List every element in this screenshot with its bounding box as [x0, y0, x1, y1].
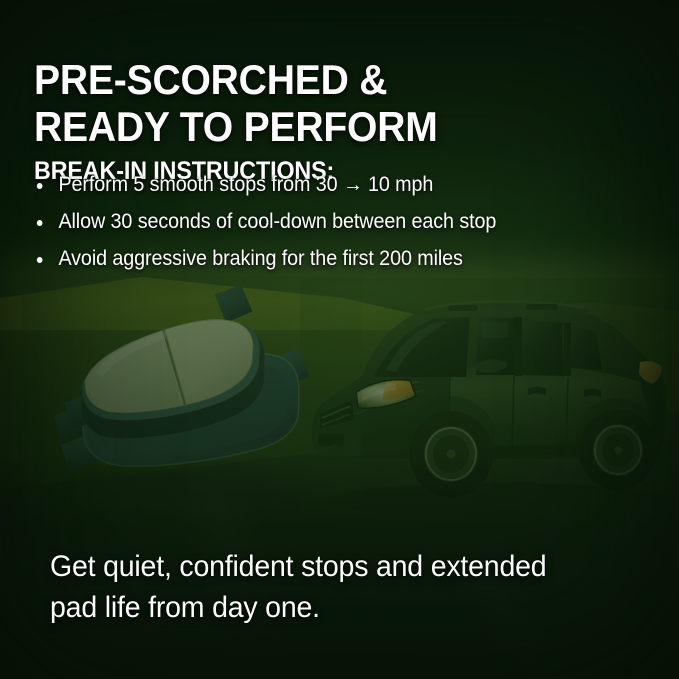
break-in-instruction-list: Perform 5 smooth stops from 30 → 10 mph …: [34, 170, 654, 282]
page-title: PRE-SCORCHED & READY TO PERFORM: [34, 56, 611, 150]
bullet-dot-icon: [37, 257, 43, 263]
list-item-label: Allow 30 seconds of cool-down between ea…: [58, 210, 496, 233]
poster-copy: PRE-SCORCHED & READY TO PERFORM BREAK-IN…: [0, 0, 679, 679]
tagline-line-2: pad life from day one.: [50, 587, 620, 628]
product-infographic-poster: PRE-SCORCHED & READY TO PERFORM BREAK-IN…: [0, 0, 679, 679]
bullet-dot-icon: [37, 183, 43, 189]
list-item: Perform 5 smooth stops from 30 → 10 mph: [34, 170, 617, 200]
list-item-label: Avoid aggressive braking for the first 2…: [58, 247, 462, 270]
headline-line-1: PRE-SCORCHED &: [34, 56, 611, 103]
list-item: Avoid aggressive braking for the first 2…: [34, 244, 617, 274]
list-item-label: Perform 5 smooth stops from 30 → 10 mph: [58, 173, 433, 196]
bullet-dot-icon: [37, 220, 43, 226]
list-item: Allow 30 seconds of cool-down between ea…: [34, 207, 617, 237]
tagline-line-1: Get quiet, confident stops and extended: [50, 546, 620, 587]
headline-line-2: READY TO PERFORM: [34, 103, 611, 150]
benefit-tagline: Get quiet, confident stops and extended …: [50, 546, 620, 629]
